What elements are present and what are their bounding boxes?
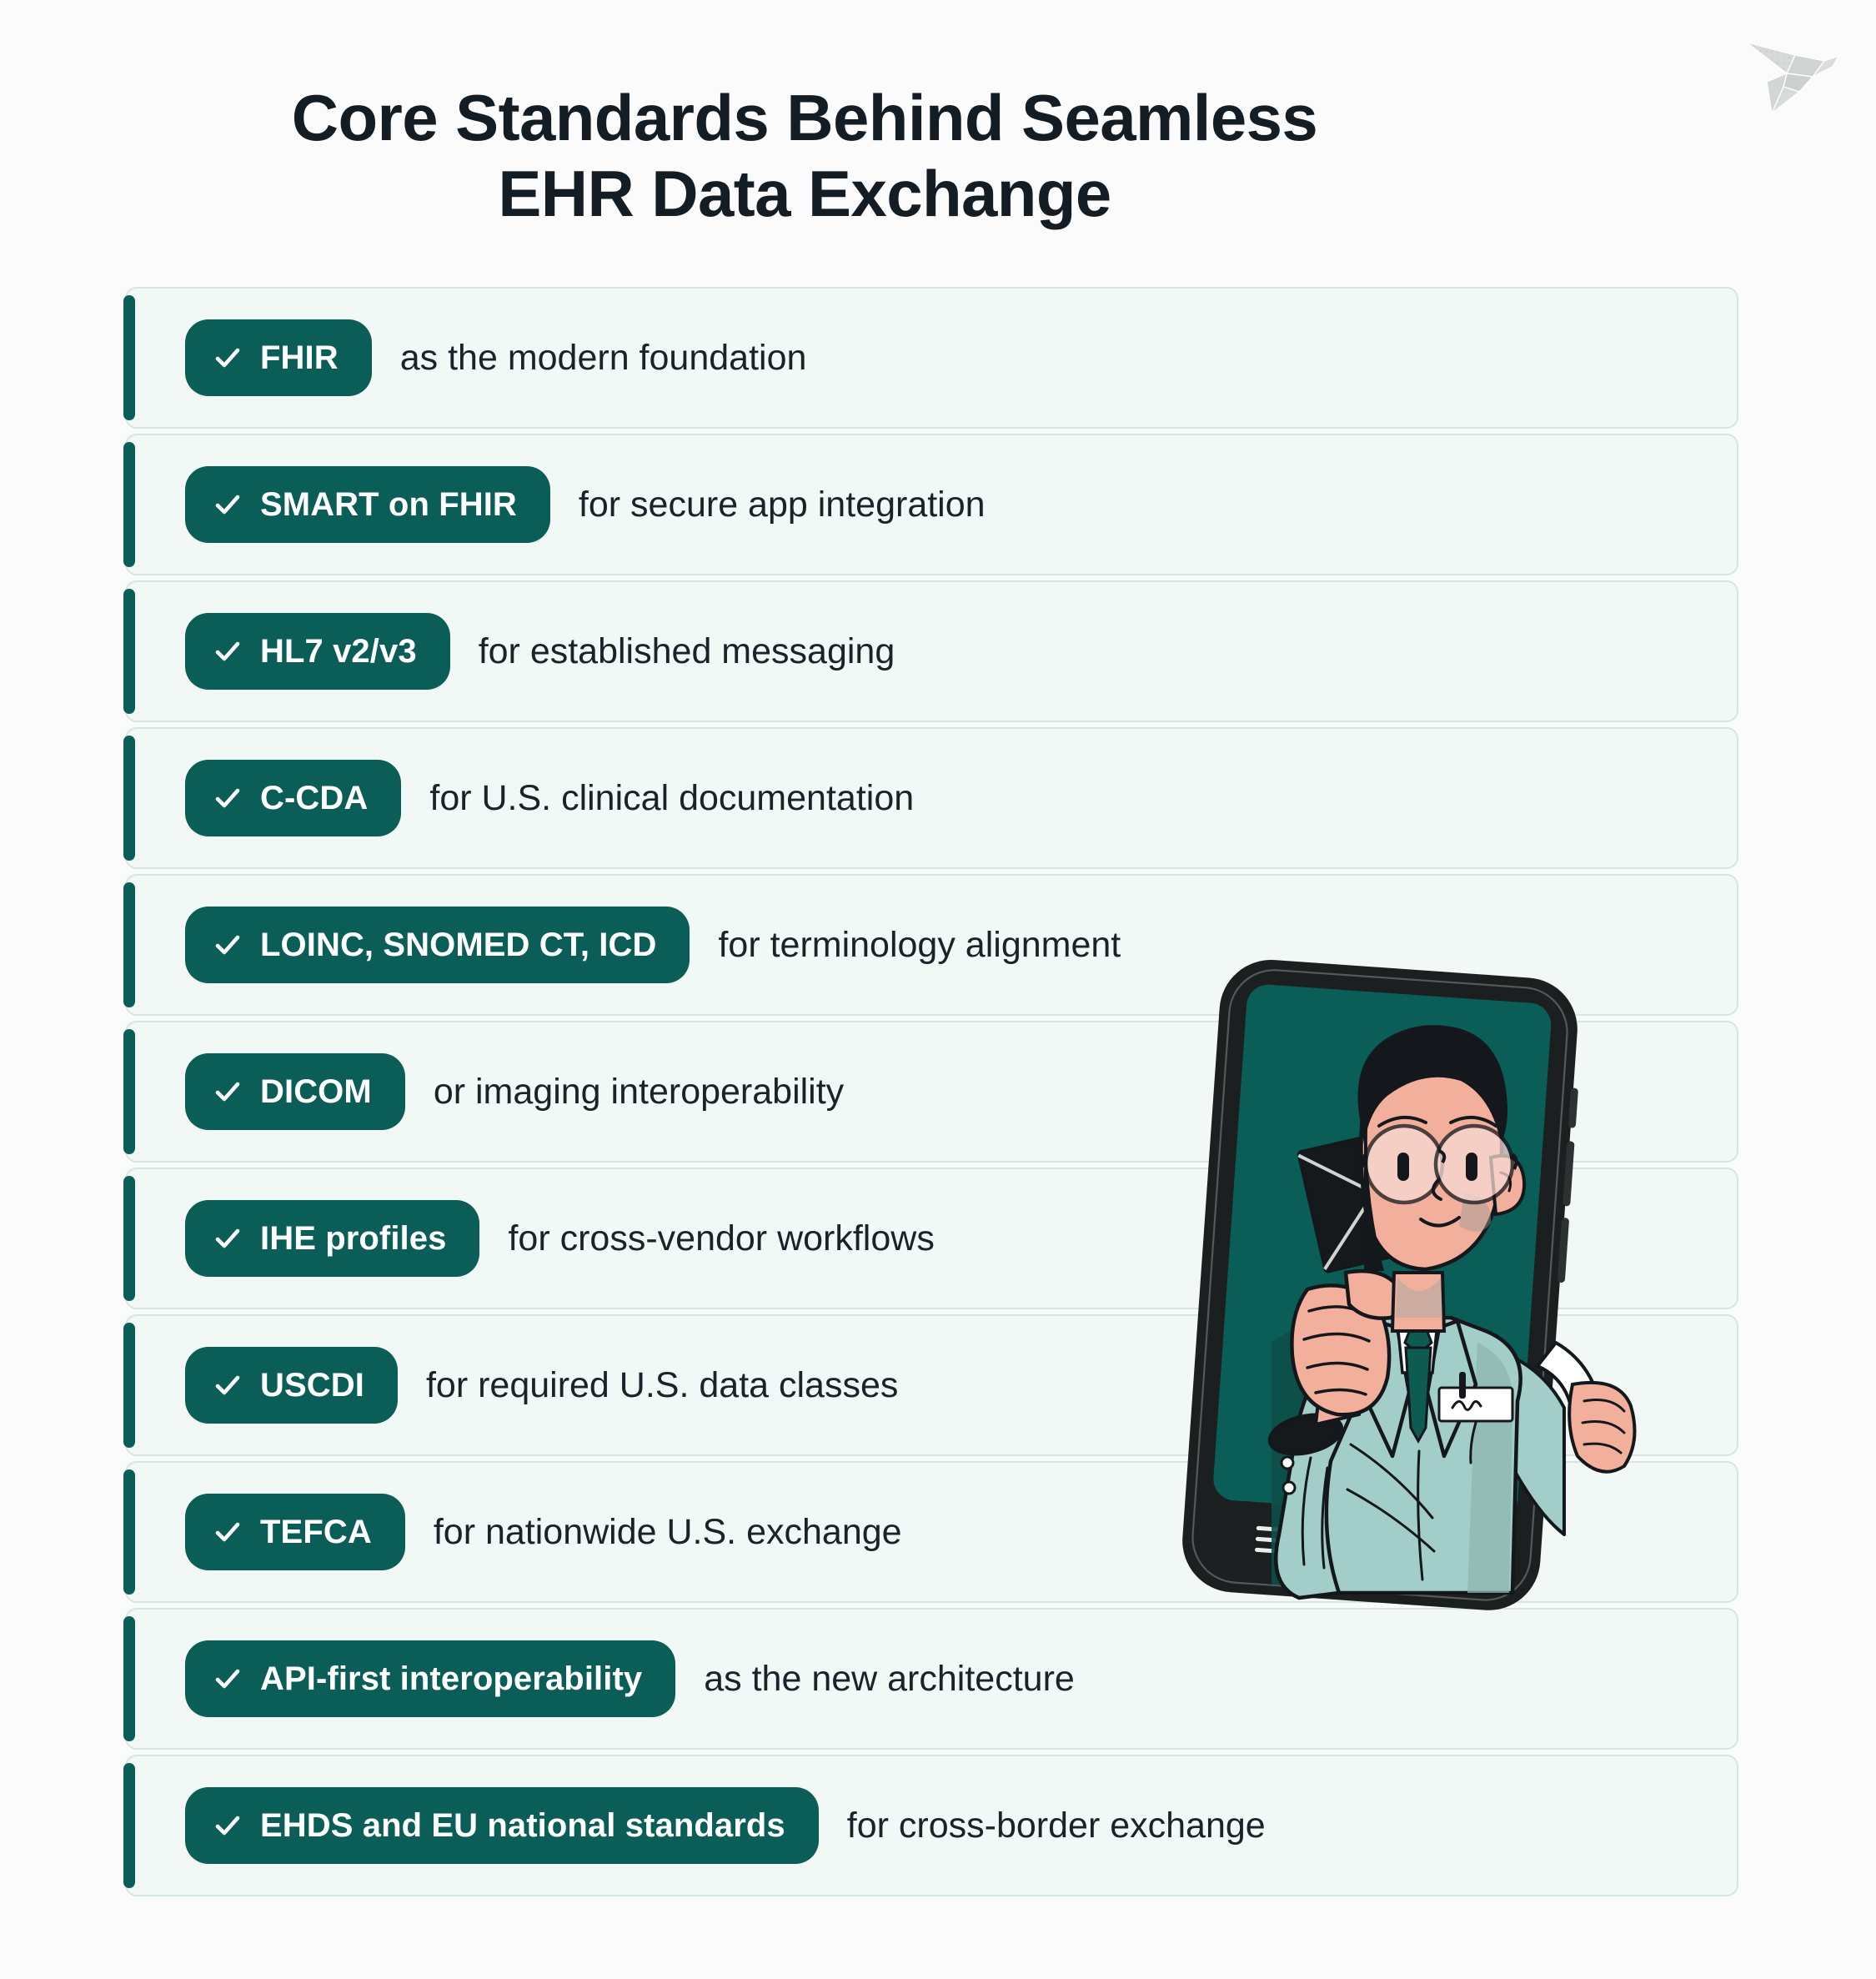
standard-description: or imaging interoperability xyxy=(434,1074,844,1110)
standard-pill[interactable]: IHE profiles xyxy=(185,1200,479,1277)
standard-label: SMART on FHIR xyxy=(260,488,517,521)
standard-label: TEFCA xyxy=(260,1515,372,1549)
standard-description: for cross-border exchange xyxy=(847,1808,1266,1844)
row-accent-bar xyxy=(123,1176,135,1301)
standard-row: FHIRas the modern foundation xyxy=(125,287,1738,429)
check-icon xyxy=(213,637,242,666)
check-icon xyxy=(213,1224,242,1253)
standard-row: DICOMor imaging interoperability xyxy=(125,1021,1738,1163)
standard-description: for established messaging xyxy=(479,634,895,670)
standard-label: API-first interoperability xyxy=(260,1662,642,1695)
standard-row: C-CDAfor U.S. clinical documentation xyxy=(125,727,1738,869)
standard-description: for required U.S. data classes xyxy=(426,1368,898,1404)
standard-pill[interactable]: DICOM xyxy=(185,1053,405,1130)
standard-pill[interactable]: LOINC, SNOMED CT, ICD xyxy=(185,907,690,983)
standard-pill[interactable]: HL7 v2/v3 xyxy=(185,613,450,690)
row-accent-bar xyxy=(123,1616,135,1741)
standard-description: as the modern foundation xyxy=(400,340,807,376)
standard-row: LOINC, SNOMED CT, ICDfor terminology ali… xyxy=(125,874,1738,1016)
title-line-1: Core Standards Behind Seamless xyxy=(0,80,1609,156)
page-title: Core Standards Behind Seamless EHR Data … xyxy=(0,80,1609,233)
check-icon xyxy=(213,931,242,959)
check-icon xyxy=(213,1077,242,1106)
standard-pill[interactable]: API-first interoperability xyxy=(185,1640,675,1717)
standard-pill[interactable]: FHIR xyxy=(185,319,372,396)
row-accent-bar xyxy=(123,589,135,714)
standard-label: HL7 v2/v3 xyxy=(260,635,417,668)
origami-bird-logo xyxy=(1712,15,1858,123)
infographic-page: Core Standards Behind Seamless EHR Data … xyxy=(0,0,1876,1979)
row-accent-bar xyxy=(123,736,135,861)
standard-label: FHIR xyxy=(260,341,339,374)
standard-description: for U.S. clinical documentation xyxy=(429,781,914,816)
row-accent-bar xyxy=(123,442,135,567)
row-accent-bar xyxy=(123,1323,135,1448)
standard-label: DICOM xyxy=(260,1075,372,1108)
row-accent-bar xyxy=(123,1763,135,1888)
check-icon xyxy=(213,1371,242,1399)
standard-description: for secure app integration xyxy=(579,487,986,523)
standard-row: API-first interoperabilityas the new arc… xyxy=(125,1608,1738,1750)
check-icon xyxy=(213,1811,242,1840)
standard-description: as the new architecture xyxy=(704,1661,1075,1697)
standard-label: EHDS and EU national standards xyxy=(260,1809,785,1842)
standard-row: SMART on FHIRfor secure app integration xyxy=(125,434,1738,575)
standard-pill[interactable]: EHDS and EU national standards xyxy=(185,1787,819,1864)
standard-description: for terminology alignment xyxy=(718,927,1121,963)
check-icon xyxy=(213,1665,242,1693)
standard-label: IHE profiles xyxy=(260,1222,446,1255)
check-icon xyxy=(213,1518,242,1546)
standard-label: C-CDA xyxy=(260,781,368,815)
standard-label: LOINC, SNOMED CT, ICD xyxy=(260,928,656,962)
standard-pill[interactable]: USCDI xyxy=(185,1347,398,1424)
standard-label: USCDI xyxy=(260,1369,364,1402)
standard-description: for cross-vendor workflows xyxy=(508,1221,934,1257)
standards-list: FHIRas the modern foundationSMART on FHI… xyxy=(125,287,1738,1901)
standard-pill[interactable]: C-CDA xyxy=(185,760,401,836)
standard-row: USCDIfor required U.S. data classes xyxy=(125,1314,1738,1456)
standard-row: TEFCAfor nationwide U.S. exchange xyxy=(125,1461,1738,1603)
check-icon xyxy=(213,344,242,372)
standard-row: EHDS and EU national standardsfor cross-… xyxy=(125,1755,1738,1896)
row-accent-bar xyxy=(123,1029,135,1154)
row-accent-bar xyxy=(123,882,135,1007)
standard-description: for nationwide U.S. exchange xyxy=(434,1514,902,1550)
title-line-2: EHR Data Exchange xyxy=(0,156,1609,232)
row-accent-bar xyxy=(123,295,135,420)
standard-pill[interactable]: SMART on FHIR xyxy=(185,466,550,543)
standard-pill[interactable]: TEFCA xyxy=(185,1494,405,1570)
check-icon xyxy=(213,490,242,519)
standard-row: IHE profilesfor cross-vendor workflows xyxy=(125,1168,1738,1309)
row-accent-bar xyxy=(123,1469,135,1595)
check-icon xyxy=(213,784,242,812)
standard-row: HL7 v2/v3for established messaging xyxy=(125,580,1738,722)
